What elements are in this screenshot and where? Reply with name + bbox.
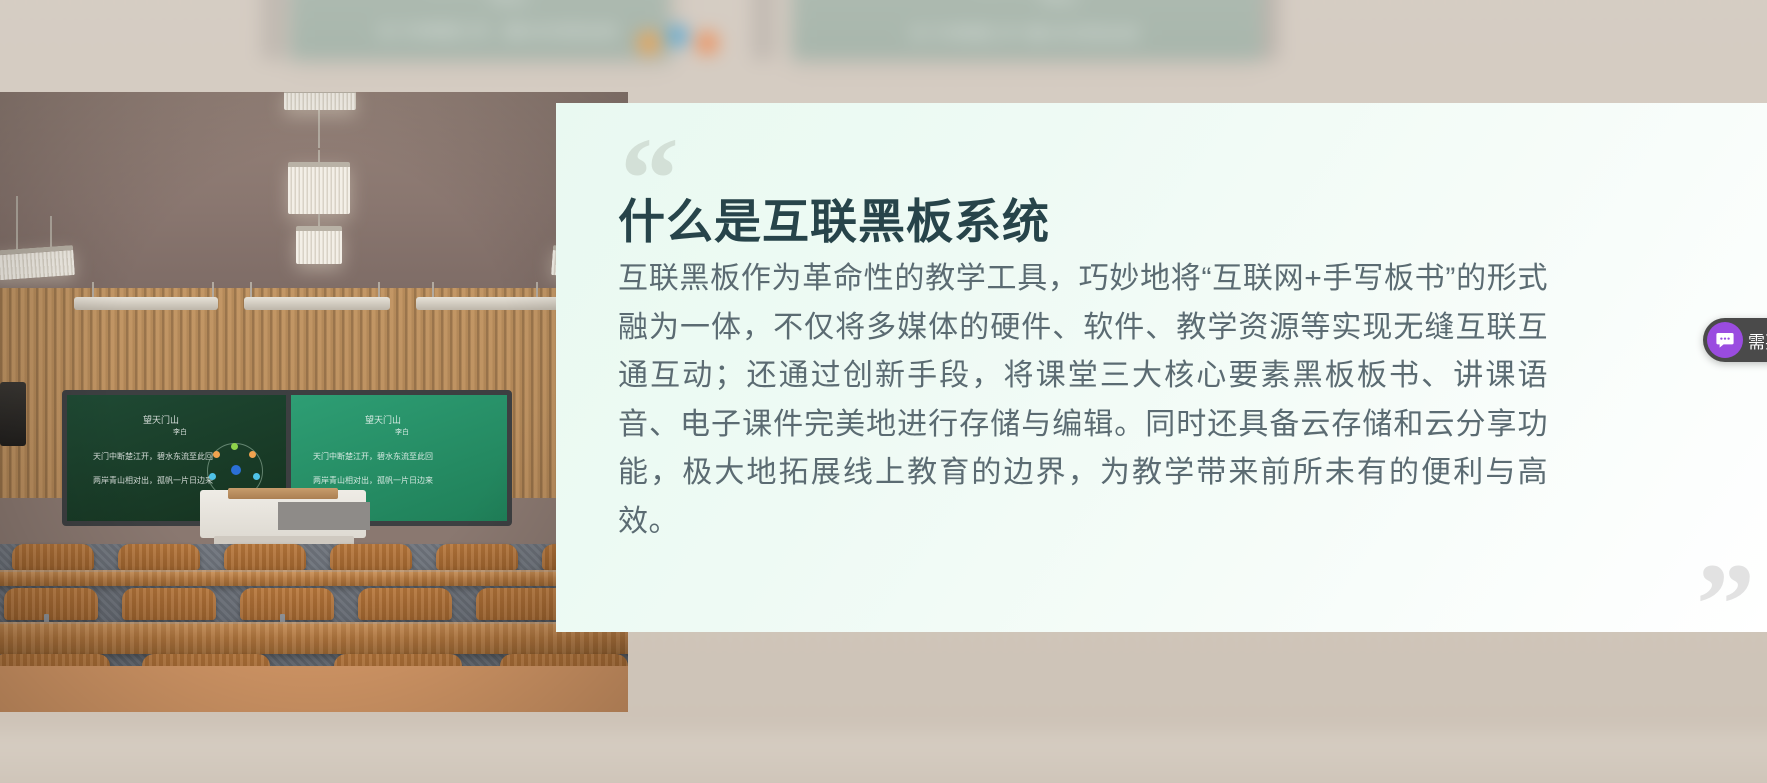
photo-chair <box>12 544 94 570</box>
background-floor <box>0 733 1767 783</box>
photo-board-green-title: 望天门山 <box>365 413 401 426</box>
photo-chair <box>436 544 518 570</box>
photo-podium-panel <box>278 502 370 530</box>
photo-atom-dot <box>231 443 238 450</box>
photo-board-green-line1: 天门中断楚江开，碧水东流至此回 <box>313 451 433 462</box>
customer-service-chat-widget[interactable]: 需要产 <box>1703 318 1767 362</box>
photo-chair <box>118 544 200 570</box>
background-pillar-mid <box>750 0 776 60</box>
photo-board-dark-line2: 两岸青山相对出，孤帆一片日边来 <box>93 475 213 486</box>
photo-chair <box>122 588 216 620</box>
photo-board-green-author: 李白 <box>395 427 409 437</box>
photo-board-dark-line1: 天门中断楚江开，碧水东流至此回 <box>93 451 213 462</box>
chat-bubble-icon[interactable] <box>1707 322 1743 358</box>
background-light-dot <box>638 32 660 54</box>
photo-pendant-lamp <box>0 245 75 281</box>
photo-atom-dot <box>209 473 216 480</box>
photo-board-dark-title: 望天门山 <box>143 413 179 426</box>
photo-light-strip <box>244 297 390 310</box>
photo-chair <box>330 544 412 570</box>
background-blackboard-left: 望天门山 (李白) 天门中断楚江开，碧水东流至此回 <box>290 0 670 60</box>
photo-light-strip <box>416 297 560 310</box>
chat-widget-label[interactable]: 需要产 <box>1748 328 1767 353</box>
photo-pendant-lamp <box>296 226 342 264</box>
classroom-photo: 望天门山 李白 天门中断楚江开，碧水东流至此回 两岸青山相对出，孤帆一片日边来 … <box>0 92 628 712</box>
intro-quote-card: “ 什么是互联黑板系统 互联黑板作为革命性的教学工具，巧妙地将“互联网+手写板书… <box>556 103 1767 632</box>
background-board-right-author: (李白) <box>1040 0 1080 7</box>
background-board-left-author: (李白) <box>490 0 530 7</box>
photo-chair <box>240 588 334 620</box>
background-light-dot <box>668 26 688 46</box>
photo-atom-dot <box>249 451 256 458</box>
photo-atom-dot <box>213 451 220 458</box>
background-pillar-left <box>260 0 286 60</box>
photo-desk-row <box>0 570 628 586</box>
photo-chair <box>358 588 452 620</box>
photo-atom-dot <box>253 473 260 480</box>
photo-desk-row <box>0 622 628 654</box>
photo-light-strip <box>74 297 218 310</box>
photo-pendant-lamp <box>284 92 356 110</box>
background-board-right-line: 天门中断楚江开 碧水东流至此回 <box>910 24 1140 44</box>
quote-close-icon: ” <box>1696 546 1755 664</box>
intro-body-text: 互联黑板作为革命性的教学工具，巧妙地将“互联网+手写板书”的形式融为一体，不仅将… <box>618 255 1548 547</box>
page-title: 什么是互联黑板系统 <box>618 183 1050 252</box>
photo-board-dark-author: 李白 <box>173 427 187 437</box>
photo-atom-core <box>231 465 241 475</box>
photo-chair <box>4 588 98 620</box>
photo-foreground-desk <box>0 666 628 712</box>
photo-podium-top <box>228 488 338 499</box>
background-board-left-line: 天门中断楚江开，碧水东流至此回 <box>378 22 618 42</box>
photo-chair <box>224 544 306 570</box>
background-light-dot <box>696 32 718 54</box>
photo-pendant-lamp <box>288 162 350 214</box>
background-blackboard-right: 望天门山 (李白) 天门中断楚江开 碧水东流至此回 <box>792 0 1262 60</box>
photo-board-green-line2: 两岸青山相对出，孤帆一片日边来 <box>313 475 433 486</box>
photo-speaker-left <box>0 382 26 446</box>
photo-lamp-rod <box>16 196 18 250</box>
